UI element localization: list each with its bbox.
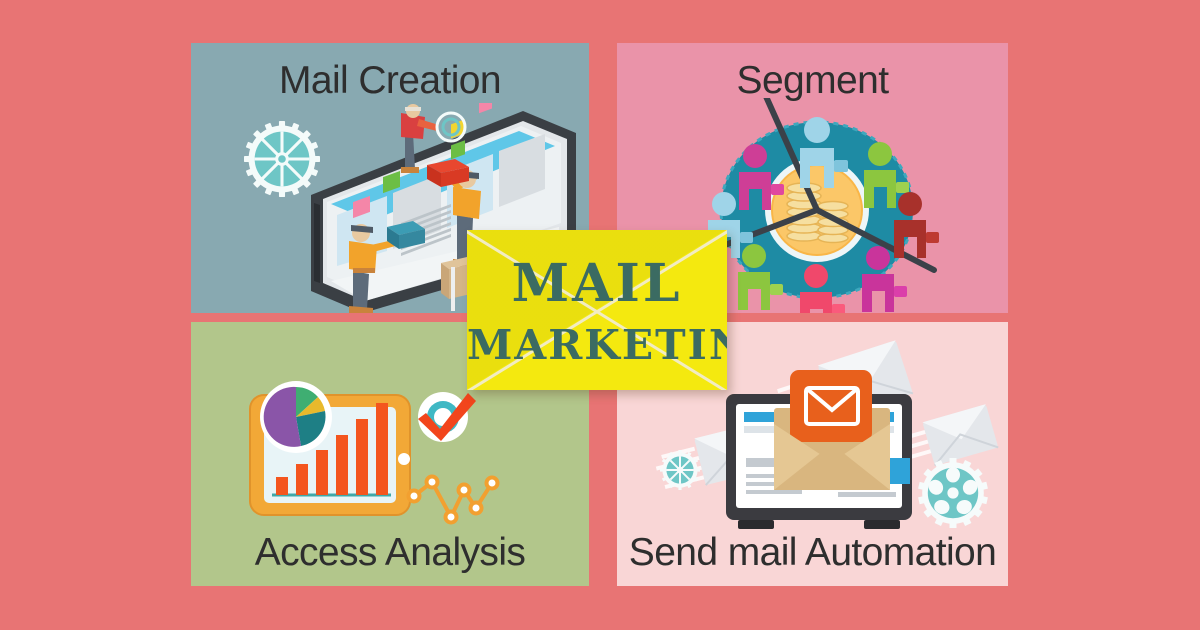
panel-title-segment: Segment	[617, 61, 1008, 100]
analytics-illustration	[236, 377, 536, 542]
envelope-title-line1: MAIL	[467, 258, 727, 310]
pie-chart-icon	[260, 381, 332, 453]
segment-illustration	[692, 98, 942, 313]
infographic-canvas: Mail Creation	[0, 0, 1200, 630]
line-chart-icon	[409, 477, 498, 523]
panel-title-mail-creation: Mail Creation	[191, 61, 589, 100]
check-mark-icon	[418, 392, 476, 442]
gear-icon	[918, 458, 988, 528]
mail-marketing-envelope[interactable]: MAIL MARKETING	[467, 230, 727, 390]
envelope-title-line2: MARKETING	[467, 325, 727, 366]
